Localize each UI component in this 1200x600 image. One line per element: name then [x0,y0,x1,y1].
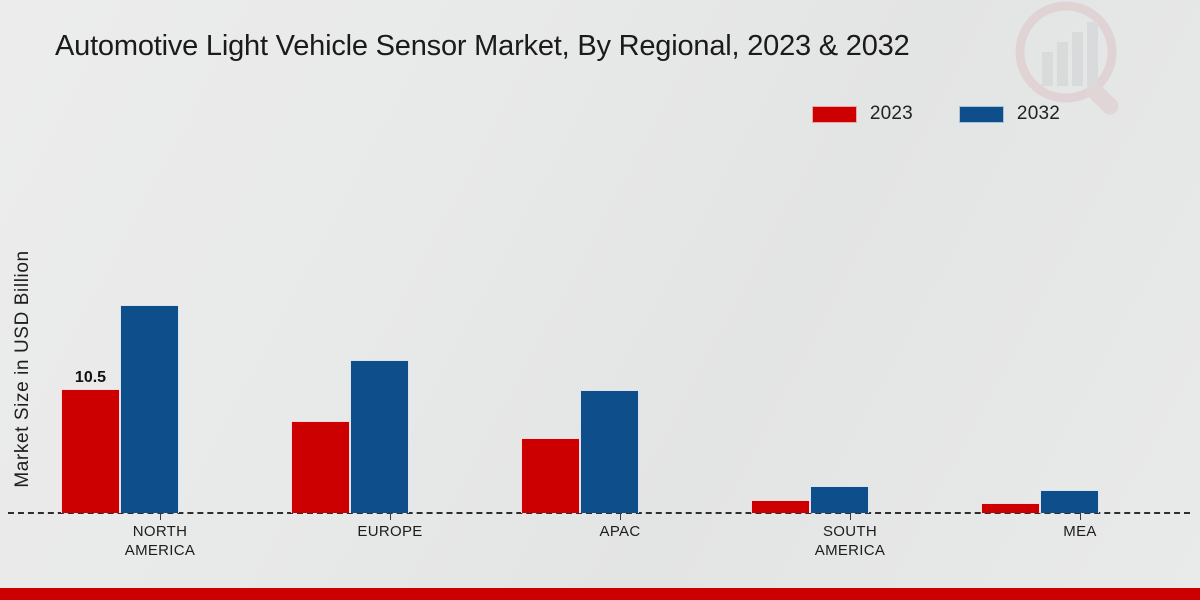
x-label-south-america-line1: SOUTH [750,522,950,541]
bar-group-europe [285,213,415,513]
x-label-mea: MEA [980,522,1180,541]
bar-group-north-america: 10.5 [55,213,185,513]
x-tick-apac [620,513,621,520]
bar-europe-2023[interactable] [291,421,350,513]
bar-group-south-america [745,213,875,513]
bar-north-america-2032[interactable] [120,305,179,513]
x-label-north-america-line2: AMERICA [60,541,260,560]
bar-value-north-america-2023: 10.5 [75,369,106,387]
x-tick-north-america [160,513,161,520]
bar-south-america-2023[interactable] [751,500,810,513]
bar-group-mea [975,213,1105,513]
chart-canvas: Automotive Light Vehicle Sensor Market, … [0,0,1200,600]
x-label-south-america: SOUTH AMERICA [750,522,950,560]
bar-apac-2032[interactable] [580,390,639,513]
x-tick-europe [390,513,391,520]
bar-mea-2023[interactable] [981,503,1040,513]
bar-apac-2023[interactable] [521,438,580,513]
bar-group-apac [515,213,645,513]
x-label-apac: APAC [520,522,720,541]
x-label-europe: EUROPE [290,522,490,541]
x-label-north-america-line1: NORTH [60,522,260,541]
x-label-south-america-line2: AMERICA [750,541,950,560]
plot-area: 10.5 NORTH AMERICA EUROPE APAC [0,0,1200,600]
x-label-europe-line1: EUROPE [290,522,490,541]
x-label-apac-line1: APAC [520,522,720,541]
x-label-north-america: NORTH AMERICA [60,522,260,560]
x-tick-mea [1080,513,1081,520]
x-label-mea-line1: MEA [980,522,1180,541]
x-tick-south-america [850,513,851,520]
bar-north-america-2023[interactable]: 10.5 [61,389,120,513]
bar-south-america-2032[interactable] [810,486,869,513]
bar-mea-2032[interactable] [1040,490,1099,513]
bottom-banner [0,588,1200,600]
bar-europe-2032[interactable] [350,360,409,513]
